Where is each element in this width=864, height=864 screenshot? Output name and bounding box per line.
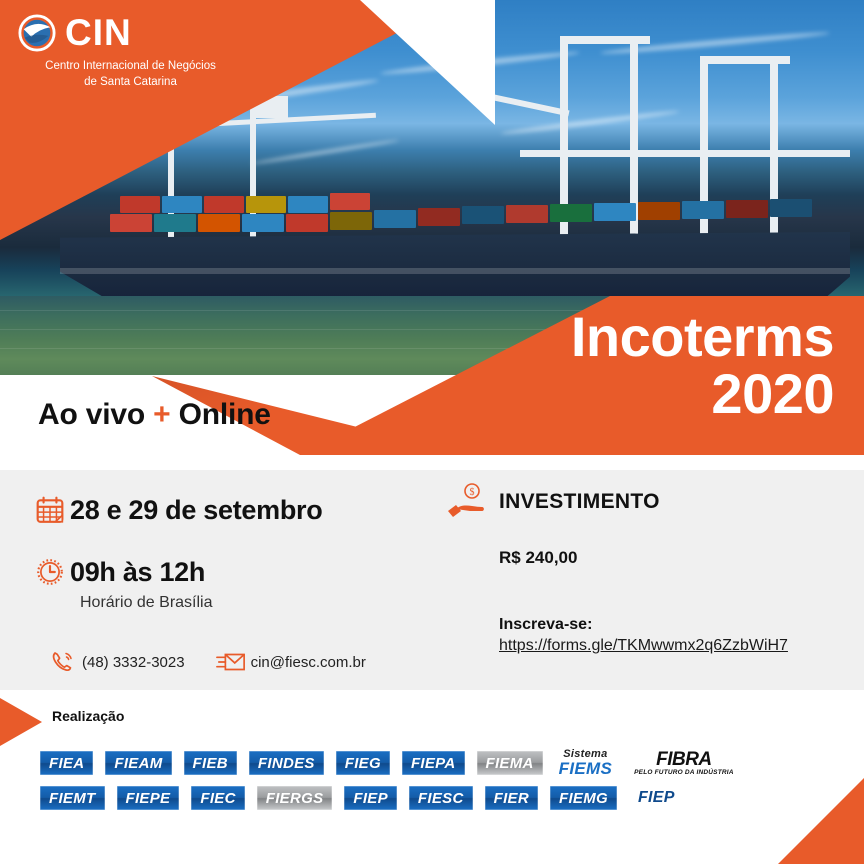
cin-globe-icon xyxy=(18,14,56,52)
crane-rail xyxy=(520,150,850,157)
container xyxy=(286,214,328,232)
container xyxy=(550,204,592,222)
realization-label: Realização xyxy=(52,708,124,724)
sponsor-logo: FIEP xyxy=(629,786,684,810)
sponsor-logo: FIEPA xyxy=(402,751,465,775)
crane-top-beam xyxy=(700,56,790,64)
sponsor-logo: FIEG xyxy=(336,751,390,775)
calendar-icon xyxy=(30,490,70,530)
sponsor-logo: FIEPE xyxy=(117,786,180,810)
sponsor-logo: FIBRAPELO FUTURO DA INDÚSTRIA xyxy=(628,748,740,778)
date-row: 28 e 29 de setembro xyxy=(30,490,450,530)
logo-row-1: FIEAFIEAMFIEBFINDESFIEGFIEPAFIEMASistema… xyxy=(40,748,830,778)
signup-block: Inscreva-se: https://forms.gle/TKMwwmx2q… xyxy=(499,616,855,655)
email-address[interactable]: cin@fiesc.com.br xyxy=(251,654,366,671)
container xyxy=(246,196,286,213)
investment-header: $ INVESTIMENTO xyxy=(445,480,855,524)
container xyxy=(374,210,416,228)
live-format-label: Ao vivo + Online xyxy=(38,398,271,432)
signup-label: Inscreva-se: xyxy=(499,616,855,634)
investment-price: R$ 240,00 xyxy=(499,548,855,568)
clock-icon xyxy=(30,552,70,592)
sponsor-logo: SistemaFIEMS xyxy=(555,748,616,778)
container xyxy=(120,196,160,213)
envelope-icon xyxy=(211,642,251,682)
hull-stripe xyxy=(60,268,850,274)
container xyxy=(330,212,372,230)
sponsor-logos: FIEAFIEAMFIEBFINDESFIEGFIEPAFIEMASistema… xyxy=(40,748,830,818)
title-line-1: Incoterms xyxy=(571,305,834,368)
phone-icon xyxy=(42,642,82,682)
title-line-2: 2020 xyxy=(274,365,834,422)
live-plus: + xyxy=(153,398,170,431)
event-date: 28 e 29 de setembro xyxy=(70,495,322,526)
container xyxy=(418,208,460,226)
container xyxy=(198,214,240,232)
container xyxy=(682,201,724,219)
sponsor-logo: FIEMA xyxy=(477,751,543,775)
hero-section: CIN Centro Internacional de Negócios de … xyxy=(0,0,864,470)
info-left-column: 28 e 29 de setembro 09h às 12h Horário d… xyxy=(30,490,450,682)
investment-title: INVESTIMENTO xyxy=(499,490,660,514)
container xyxy=(154,214,196,232)
container xyxy=(330,193,370,210)
sponsor-logo: FIEB xyxy=(184,751,237,775)
sponsor-logo: FIER xyxy=(485,786,538,810)
container xyxy=(242,214,284,232)
sponsor-logo: FINDES xyxy=(249,751,324,775)
cloud-wisp xyxy=(500,109,679,136)
hand-coin-icon: $ xyxy=(445,480,491,524)
cloud-wisp xyxy=(251,138,400,165)
sponsor-logo: FIERGS xyxy=(257,786,333,810)
container xyxy=(288,196,328,213)
sponsor-logo: FIEC xyxy=(191,786,244,810)
container xyxy=(110,214,152,232)
live-prefix: Ao vivo xyxy=(38,398,145,431)
crane-top-beam xyxy=(560,36,650,44)
container xyxy=(204,196,244,213)
sponsor-logo: FIESC xyxy=(409,786,473,810)
brand-tagline-line2: de Santa Catarina xyxy=(18,75,243,91)
time-row: 09h às 12h xyxy=(30,552,450,592)
brand-name: CIN xyxy=(65,12,132,54)
sponsor-logo: FIEMG xyxy=(550,786,617,810)
info-section: 28 e 29 de setembro 09h às 12h Horário d… xyxy=(0,470,864,690)
contact-row: (48) 3332-3023 cin@fiesc.com.br xyxy=(42,642,450,682)
live-suffix: Online xyxy=(179,398,271,431)
container xyxy=(638,202,680,220)
container xyxy=(594,203,636,221)
timezone-note: Horário de Brasília xyxy=(80,594,450,612)
container xyxy=(462,206,504,224)
info-right-column: $ INVESTIMENTO R$ 240,00 Inscreva-se: ht… xyxy=(445,480,855,655)
sponsor-logo: FIEP xyxy=(344,786,397,810)
container xyxy=(770,199,812,217)
poster: CIN Centro Internacional de Negócios de … xyxy=(0,0,864,864)
phone-number[interactable]: (48) 3332-3023 xyxy=(82,654,185,671)
sponsor-logo: FIEAM xyxy=(105,751,171,775)
sponsor-logo: FIEA xyxy=(40,751,93,775)
sponsor-logo: FIEMT xyxy=(40,786,105,810)
container xyxy=(506,205,548,223)
event-time: 09h às 12h xyxy=(70,557,205,588)
svg-text:$: $ xyxy=(470,487,475,498)
page-title: Incoterms 2020 xyxy=(274,308,834,422)
cin-logo[interactable]: CIN Centro Internacional de Negócios de … xyxy=(18,12,248,90)
container xyxy=(162,196,202,213)
container xyxy=(726,200,768,218)
signup-link[interactable]: https://forms.gle/TKMwwmx2q6ZzbWiH7 xyxy=(499,637,855,655)
logo-row-2: FIEMTFIEPEFIECFIERGSFIEPFIESCFIERFIEMGFI… xyxy=(40,786,830,810)
brand-tagline-line1: Centro Internacional de Negócios xyxy=(18,59,243,75)
